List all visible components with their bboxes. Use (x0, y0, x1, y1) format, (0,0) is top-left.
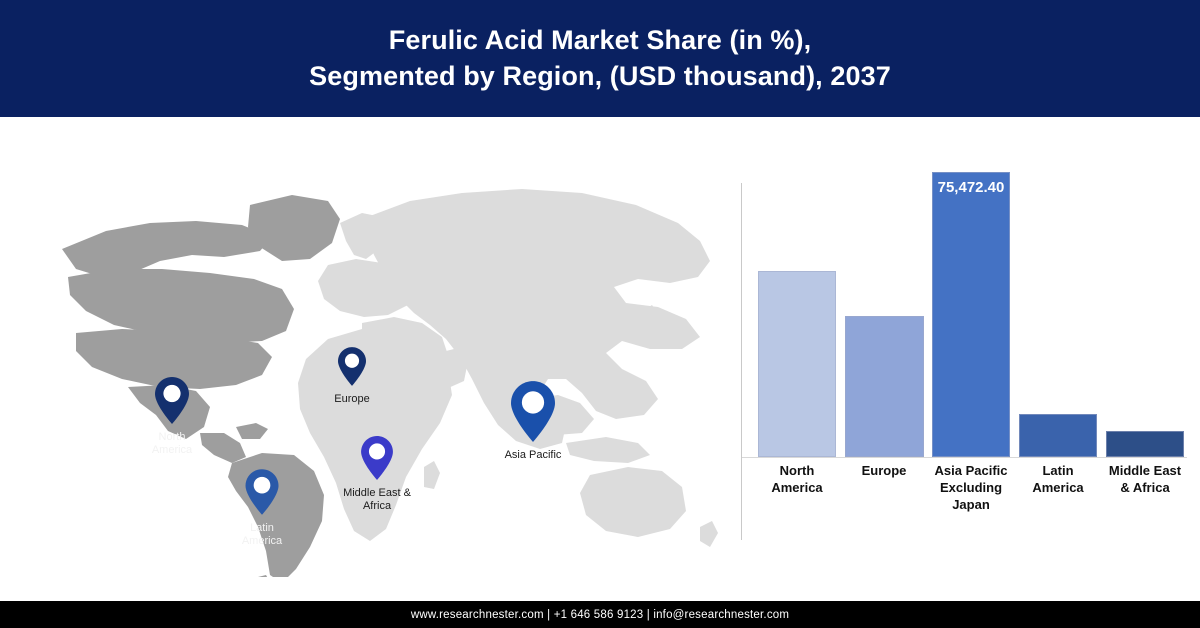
category-label-line2: America (747, 479, 847, 496)
map-pin-label-line1: Europe (334, 393, 369, 406)
map-pin-label-line2: America (242, 535, 282, 548)
page-footer: www.researchnester.com | +1 646 586 9123… (0, 601, 1200, 628)
category-label-europe: Europe (834, 462, 934, 479)
category-label-line1: Asia Pacific (921, 462, 1021, 479)
location-pin-icon (511, 381, 555, 447)
map-pin-label-line2: America (152, 444, 192, 457)
page-header: Ferulic Acid Market Share (in %), Segmen… (0, 0, 1200, 117)
bar-chart-plot-area: 75,472.40 (740, 117, 1200, 457)
map-pin-label-line1: Middle East & (343, 487, 411, 500)
map-pin-label-line1: Latin (242, 522, 282, 535)
location-pin-icon (338, 347, 366, 391)
world-map-panel: North America Europe (0, 117, 740, 601)
category-label-line3: Japan (921, 496, 1021, 513)
category-label-line2: Excluding (921, 479, 1021, 496)
category-label-middle-east-africa: Middle East & Africa (1092, 462, 1198, 496)
category-label-line1: Middle East (1092, 462, 1198, 479)
map-pin-label-europe: Europe (334, 393, 369, 406)
page-title: Ferulic Acid Market Share (in %), Segmen… (309, 23, 891, 95)
category-label-line1: North (747, 462, 847, 479)
bar-asia-pacific-excluding-japan[interactable]: 75,472.40 (932, 172, 1010, 457)
category-label-line2: & Africa (1092, 479, 1198, 496)
bar-europe[interactable] (845, 316, 924, 457)
map-pin-label-line1: North (152, 431, 192, 444)
location-pin-icon (361, 436, 393, 485)
location-pin-icon (246, 469, 279, 520)
bar-middle-east-africa[interactable] (1106, 431, 1184, 457)
bar-north-america[interactable] (758, 271, 836, 457)
page-title-line-1: Ferulic Acid Market Share (in %), (309, 23, 891, 59)
chart-x-axis-baseline (742, 457, 1187, 458)
bar-latin-america[interactable] (1019, 414, 1097, 457)
category-label-north-america: North America (747, 462, 847, 496)
map-pin-label-middle-east-africa: Middle East & Africa (343, 487, 411, 513)
category-label-asia-pacific-excluding-japan: Asia Pacific Excluding Japan (921, 462, 1021, 513)
map-pin-label-asia-pacific: Asia Pacific (505, 449, 562, 462)
map-pin-label-latin-america: Latin America (242, 522, 282, 548)
location-pin-icon (155, 377, 189, 429)
bar-chart-panel: 75,472.40 North America Europe Asia Paci… (740, 117, 1200, 601)
content-area: North America Europe (0, 117, 1200, 601)
map-pin-label-line1: Asia Pacific (505, 449, 562, 462)
category-label-line1: Europe (834, 462, 934, 479)
map-pin-label-line2: Africa (343, 500, 411, 513)
map-pin-label-north-america: North America (152, 431, 192, 457)
page-title-line-2: Segmented by Region, (USD thousand), 203… (309, 59, 891, 95)
footer-contact-text: www.researchnester.com | +1 646 586 9123… (411, 609, 789, 621)
bar-value-label-asia-pacific-excluding-japan: 75,472.40 (933, 179, 1009, 196)
bar-chart-category-labels: North America Europe Asia Pacific Exclud… (740, 462, 1200, 552)
